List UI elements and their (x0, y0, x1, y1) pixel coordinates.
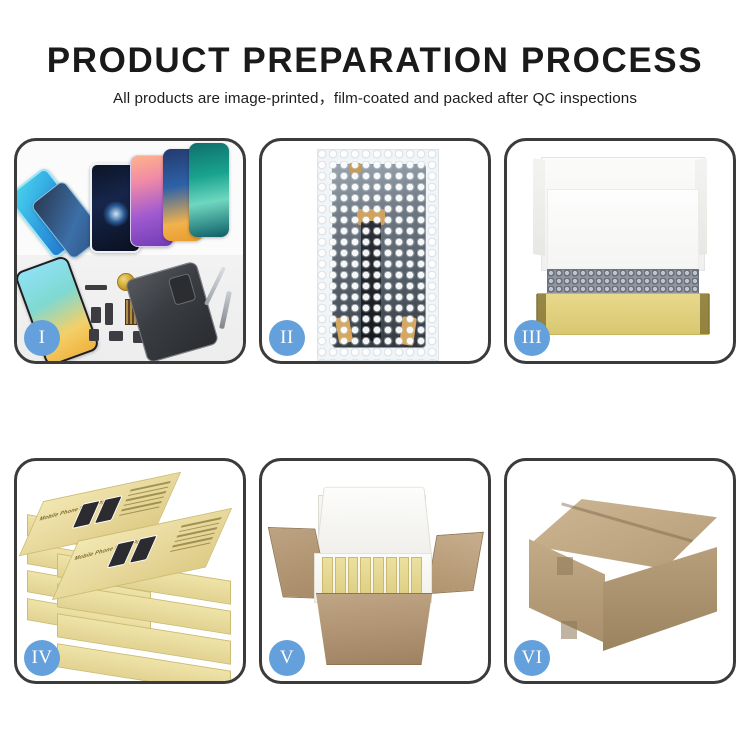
label-spec-lines-front (167, 517, 222, 559)
step-badge-2: II (269, 320, 305, 356)
carton-flap-right (426, 532, 484, 594)
camera-island (168, 273, 197, 306)
wrapped-screen-assembly (332, 164, 426, 348)
foam-lid-open (316, 487, 432, 559)
page-subtitle: All products are image-printed，film-coat… (0, 89, 750, 109)
step-badge-3: III (514, 320, 550, 356)
step-panel-1: I (14, 138, 246, 364)
top-tape-tab (349, 163, 361, 173)
flex-cable-part (85, 285, 107, 290)
yellow-boxes-inside (322, 557, 422, 597)
yellow-box-base (537, 293, 709, 335)
header: PRODUCT PREPARATION PROCESS All products… (0, 40, 750, 109)
lid-flap-left (533, 158, 545, 256)
flex-connector (357, 209, 385, 225)
step-badge-6: VI (514, 640, 550, 676)
speaker-part (105, 303, 113, 325)
camera-module-part (91, 307, 101, 323)
step-panel-3: III (504, 138, 736, 364)
carton-front-wall (308, 593, 440, 665)
bubble-wrap-bag (317, 149, 439, 361)
step-panel-6: VI (504, 458, 736, 684)
button-part (109, 331, 123, 341)
step-panel-5: V (259, 458, 491, 684)
white-foam-sheet (547, 189, 699, 273)
process-steps-grid: I II (14, 138, 736, 684)
phone-green-gradient (189, 143, 229, 237)
label-phone-image-3 (107, 539, 136, 568)
page-title: PRODUCT PREPARATION PROCESS (0, 40, 750, 82)
step-panel-2: II (259, 138, 491, 364)
label-phone-image-1 (72, 500, 101, 529)
carton-tape-upper (557, 557, 573, 575)
carton-tape-lower (561, 621, 577, 639)
sim-tray-part (89, 329, 99, 341)
flex-cable-strip (361, 221, 381, 341)
right-tape-tab (399, 316, 417, 346)
step-badge-5: V (269, 640, 305, 676)
step-badge-4: IV (24, 640, 60, 676)
product-preparation-process-infographic: PRODUCT PREPARATION PROCESS All products… (0, 0, 750, 750)
step-panel-4: Mobile Phone Spare Parts Mobile Phone Sp… (14, 458, 246, 684)
left-tape-tab (335, 316, 353, 344)
label-spec-lines-rear (116, 481, 171, 523)
step-badge-1: I (24, 320, 60, 356)
